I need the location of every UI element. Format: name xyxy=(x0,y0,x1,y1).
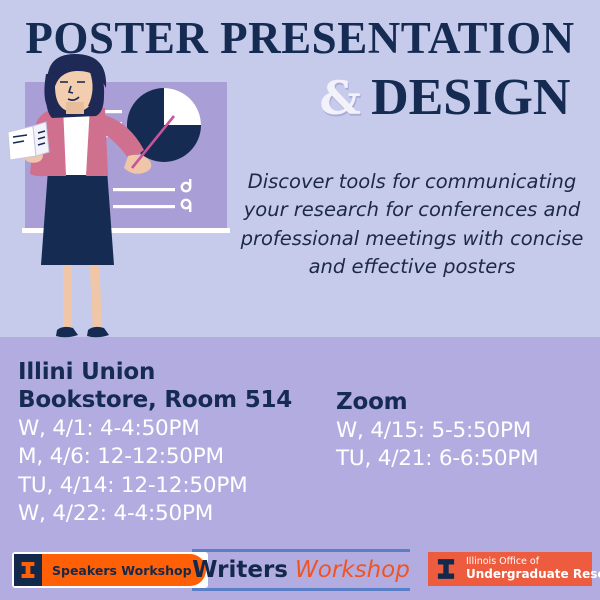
undergraduate-research-line1: Illinois Office of xyxy=(466,557,600,568)
session-item: M, 4/6: 12-12:50PM xyxy=(18,443,338,471)
description-text: Discover tools for communicating your re… xyxy=(228,168,596,281)
session-item: TU, 4/14: 12-12:50PM xyxy=(18,472,338,500)
session-list: W, 4/1: 4-4:50PM M, 4/6: 12-12:50PM TU, … xyxy=(18,415,338,529)
paper-fold xyxy=(33,122,49,156)
neck xyxy=(66,102,84,114)
speakers-workshop-label: Speakers Workshop xyxy=(42,554,206,586)
session-item: W, 4/1: 4-4:50PM xyxy=(18,415,338,443)
writers-workshop-logo[interactable]: WritersWorkshop xyxy=(192,549,410,591)
venue-column-zoom: Zoom W, 4/15: 5-5:50PM TU, 4/21: 6-6:50P… xyxy=(336,388,598,474)
venue-name-line1: Zoom xyxy=(336,388,598,416)
shoe-right xyxy=(87,327,109,337)
session-list: W, 4/15: 5-5:50PM TU, 4/21: 6-6:50PM xyxy=(336,417,598,474)
writers-workshop-word2: Workshop xyxy=(295,557,410,583)
venue-name-line2: Bookstore, Room 514 xyxy=(18,386,338,414)
headline-secondary: &DESIGN xyxy=(290,72,600,124)
shoe-left xyxy=(56,327,78,337)
writers-workshop-word1: Writers xyxy=(192,557,288,583)
session-item: W, 4/15: 5-5:50PM xyxy=(336,417,598,445)
footer-logo-bar: Speakers Workshop WritersWorkshop Illino… xyxy=(0,548,600,600)
headline-primary: POSTER PRESENTATION xyxy=(0,16,600,61)
venue-name-line1: Illini Union xyxy=(18,358,338,386)
board-rule-4 xyxy=(113,188,175,191)
headline-design-word: DESIGN xyxy=(371,69,570,126)
venue-column-illini-union: Illini Union Bookstore, Room 514 W, 4/1:… xyxy=(18,358,338,529)
undergraduate-research-line2: Undergraduate Research xyxy=(466,568,600,581)
board-rule-5 xyxy=(113,205,175,208)
venue-name: Zoom xyxy=(336,388,598,416)
skirt xyxy=(41,170,114,265)
block-i-icon xyxy=(433,554,459,584)
paper-sheet xyxy=(8,126,36,160)
speakers-workshop-logo[interactable]: Speakers Workshop xyxy=(12,552,208,588)
block-i-icon xyxy=(14,554,42,586)
session-item: TU, 4/21: 6-6:50PM xyxy=(336,445,598,473)
venue-name: Illini Union Bookstore, Room 514 xyxy=(18,358,338,414)
undergraduate-research-text: Illinois Office of Undergraduate Researc… xyxy=(466,557,600,581)
session-item: W, 4/22: 4-4:50PM xyxy=(18,500,338,528)
poster-canvas: POSTER PRESENTATION &DESIGN Discover too… xyxy=(0,0,600,600)
ampersand-glyph: & xyxy=(320,71,362,125)
undergraduate-research-logo[interactable]: Illinois Office of Undergraduate Researc… xyxy=(428,552,592,586)
